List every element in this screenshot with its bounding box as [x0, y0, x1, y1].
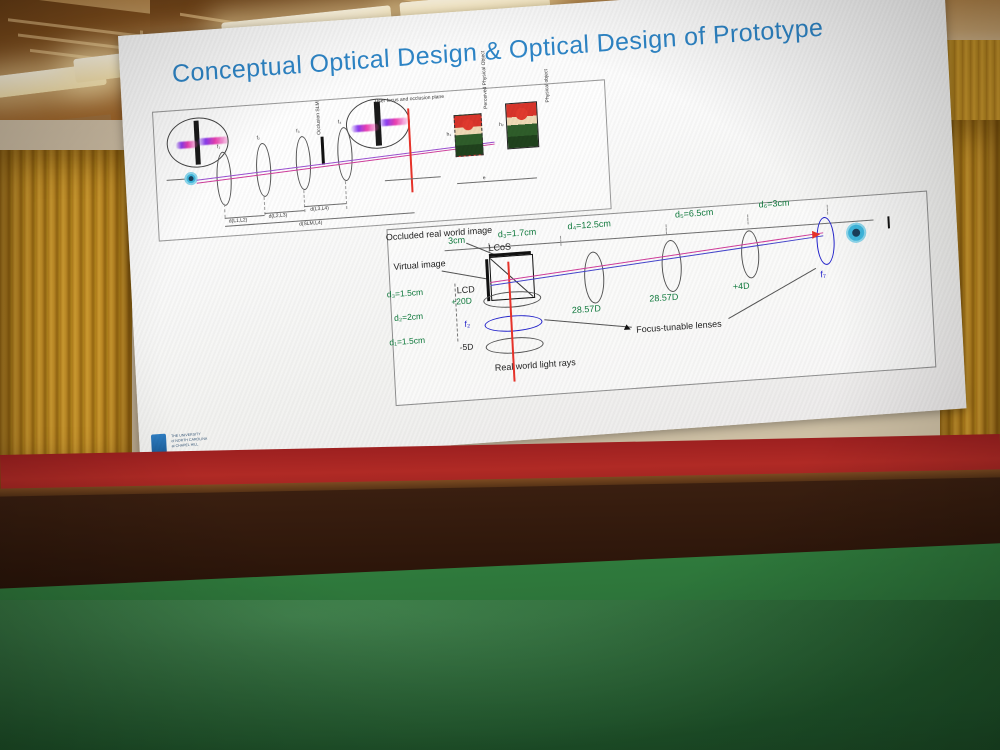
dimension-label-2: d(L2,L3) — [268, 212, 287, 220]
dim-drop-1 — [224, 204, 227, 218]
logo-line-3: at CHAPEL HILL — [171, 442, 207, 450]
optical-axis-tick — [167, 179, 185, 181]
virtual-image-text: Virtual image — [393, 258, 446, 272]
leader-focus-tunable-right — [728, 268, 816, 319]
dim-drop-4 — [345, 181, 348, 209]
occlusion-slm-bar — [321, 137, 325, 165]
virtual-ray-magenta — [490, 232, 823, 283]
leader-virtual — [442, 270, 487, 279]
power-minus5D-text: -5D — [459, 341, 473, 352]
lcos-label: LCoS — [488, 241, 511, 253]
separation-dimension-line — [457, 177, 537, 184]
dimension-label-3: d(L3,L4) — [310, 205, 329, 213]
dim-d5: d₅=6.5cm — [675, 207, 714, 220]
lens-mark-f3: f₃ — [296, 128, 300, 134]
dim-d4: d₄=12.5cm — [567, 218, 611, 231]
relay-lens-3 — [740, 230, 760, 279]
power-lens-3: +4D — [733, 280, 750, 292]
floor-shading — [0, 600, 1000, 750]
lens-mark-f1: f₁ — [217, 144, 220, 150]
user-focus-plane-text: User focus and occlusion plane — [375, 94, 445, 105]
occluded-real-text: Occluded real world image — [386, 225, 493, 243]
height-h2-label: h₂ — [499, 122, 504, 129]
user-focus-plane-label: User focus and occlusion plane — [375, 94, 441, 105]
dim-tick-c — [666, 224, 669, 234]
dim-d2-left: d₂=2cm — [394, 312, 423, 324]
dim-d3-left: d₃=1.5cm — [387, 288, 424, 300]
power-lens-2: 28.57D — [649, 292, 678, 304]
eye-pupil — [188, 176, 193, 181]
power-minus5D: -5D — [459, 342, 473, 353]
dim-tick-b — [560, 236, 563, 246]
lcd-label: LCD — [456, 284, 475, 296]
light-glow-right — [379, 117, 409, 126]
ray-arrow-head — [812, 230, 820, 239]
user-focus-plane-line — [407, 108, 413, 192]
occluded-real-world-label: Occluded real world image — [386, 225, 493, 243]
lens-mark-f4: f₄ — [338, 119, 342, 125]
dim-d6: d₆=3cm — [758, 197, 789, 210]
logo-wordmark: THE UNIVERSITY of NORTH CAROLINA at CHAP… — [171, 432, 208, 450]
real-world-rays-text: Real world light rays — [495, 357, 576, 373]
relay-lens-2 — [660, 239, 683, 292]
dimension-label-4: d(SLM,L4) — [299, 220, 323, 228]
observer-eye-pupil — [852, 228, 860, 237]
light-glow-left — [197, 136, 229, 145]
dim-d3: d₃=1.7cm — [498, 227, 537, 240]
power-plus20D: +20D — [451, 296, 472, 307]
lens-f3 — [294, 136, 312, 191]
occlusion-slm-label: Occlusion SLM — [315, 101, 323, 135]
dimension-label-1: d(L1,L2) — [229, 217, 248, 225]
prototype-design-figure: 3cm d₃=1.7cm d₄=12.5cm d₅=6.5cm d₆=3cm O… — [386, 191, 936, 407]
focus-tunable-lenses-label: Focus-tunable lenses — [631, 318, 727, 335]
virtual-image-label: Virtual image — [393, 258, 446, 272]
tunable-lens-minus5D — [485, 335, 544, 355]
physical-object-label: Physical object — [543, 69, 551, 103]
projection-screen: Conceptual Optical Design & Optical Desi… — [118, 0, 967, 475]
stage-curtain-left — [0, 150, 132, 490]
physical-object-image — [505, 101, 539, 149]
lens-mark-f2: f₂ — [256, 135, 260, 141]
observer-eye-icon — [846, 222, 867, 243]
focus-plane-arrow-line — [385, 176, 441, 181]
retina-marker — [887, 216, 890, 228]
real-world-rays-label: Real world light rays — [495, 357, 576, 373]
eye-lens-f7-label: f₇ — [820, 269, 826, 280]
dim-drop-3 — [303, 190, 306, 212]
height-h1-label: h₁ — [446, 131, 451, 138]
power-lens-1: 28.57D — [572, 303, 601, 315]
eye-lens-f7 — [815, 216, 835, 265]
power-f2: f₂ — [464, 320, 470, 330]
relay-lens-1 — [583, 251, 606, 304]
tunable-lens-f2 — [484, 313, 543, 333]
focus-tunable-text: Focus-tunable lenses — [636, 319, 722, 335]
dim-tick-d — [747, 214, 750, 224]
leader-focus-tunable-left — [544, 319, 632, 328]
dim-tick-e — [827, 205, 830, 215]
photo-of-presentation-hall: Conceptual Optical Design & Optical Desi… — [0, 0, 1000, 750]
dim-d1-left: d₁=1.5cm — [389, 336, 425, 348]
slide-surface: Conceptual Optical Design & Optical Desi… — [118, 0, 966, 467]
perceived-physical-object-image — [454, 113, 484, 157]
